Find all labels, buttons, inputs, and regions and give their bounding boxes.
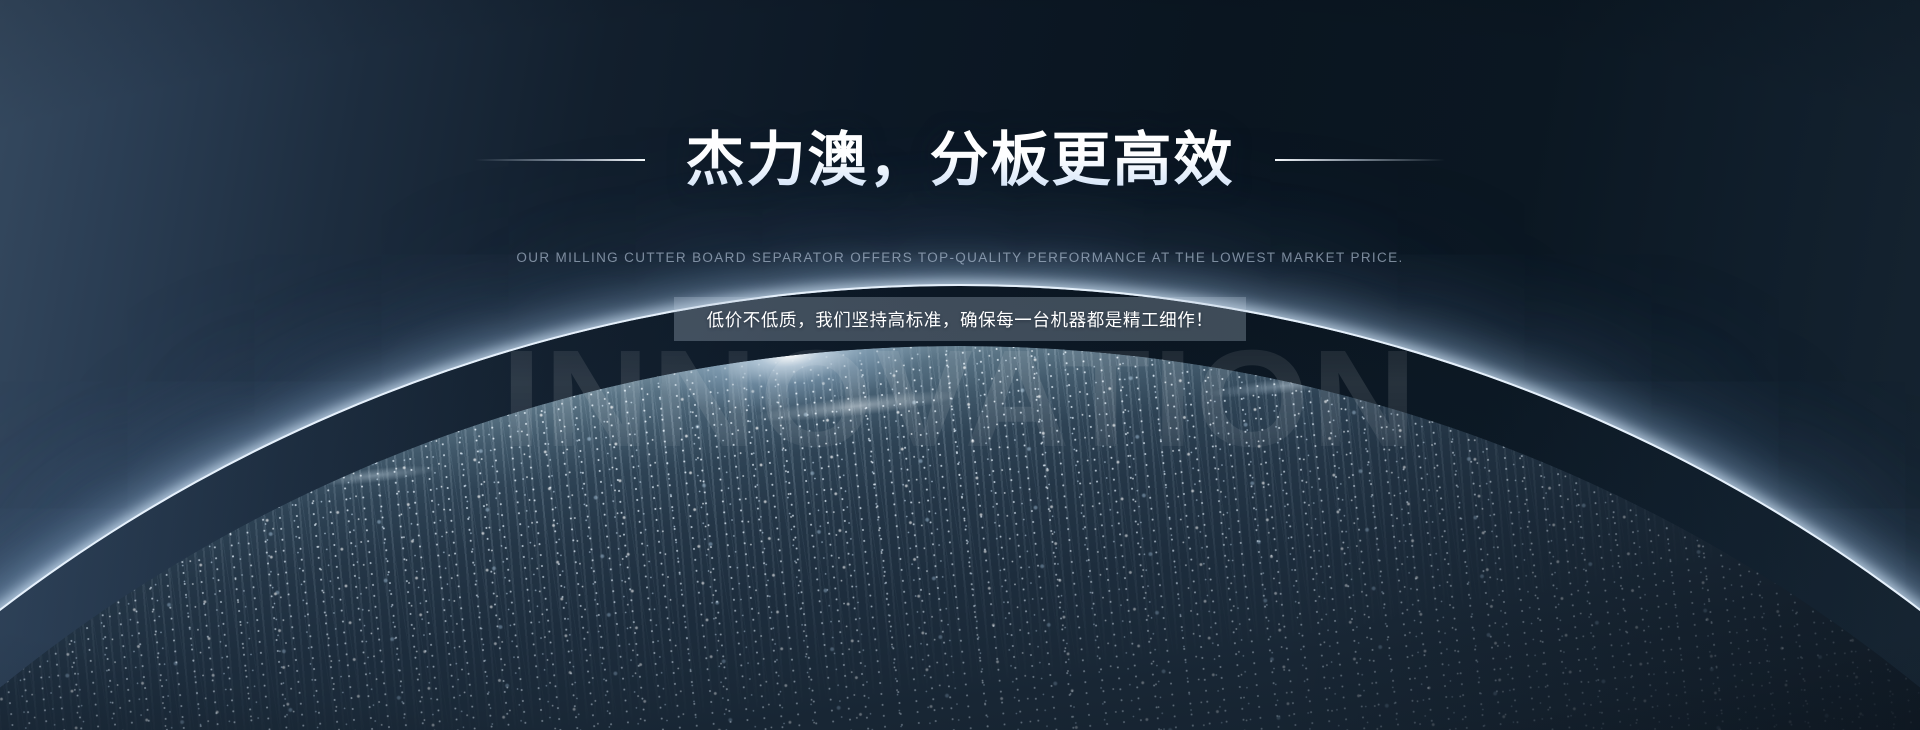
headline-row: 杰力澳，分板更高效	[0, 128, 1920, 193]
page-title: 杰力澳，分板更高效	[685, 128, 1234, 193]
innovation-watermark: INNOVATION	[0, 330, 1920, 468]
headline-rule-right	[1275, 159, 1445, 161]
headline-rule-left	[475, 159, 645, 161]
hero-banner: INNOVATION 杰力澳，分板更高效 OUR MILLING CUTTER …	[0, 0, 1920, 730]
hero-subtitle: OUR MILLING CUTTER BOARD SEPARATOR OFFER…	[0, 250, 1920, 265]
slogan-banner: 低价不低质，我们坚持高标准，确保每一台机器都是精工细作！	[674, 297, 1246, 341]
slogan-container: 低价不低质，我们坚持高标准，确保每一台机器都是精工细作！	[0, 297, 1920, 341]
